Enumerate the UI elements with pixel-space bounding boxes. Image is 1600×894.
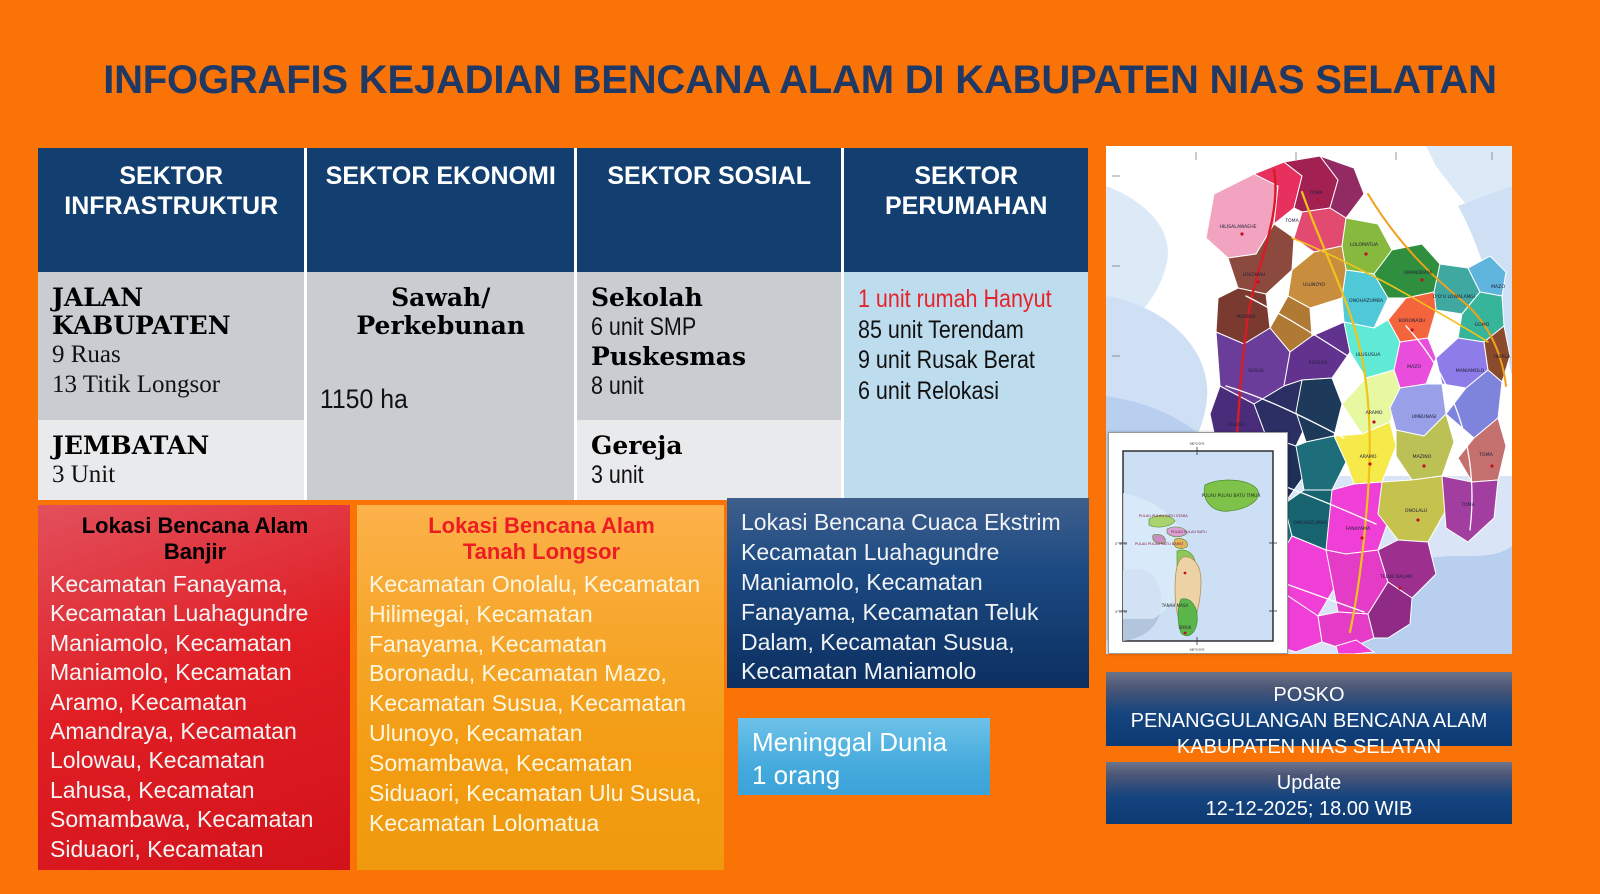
column-sosial: SEKTOR SOSIAL Sekolah 6 unit SMP Puskesm… — [577, 148, 844, 500]
header-sosial: SEKTOR SOSIAL — [577, 148, 841, 272]
svg-text:UMBUNASI: UMBUNASI — [1412, 414, 1437, 420]
svg-text:ULUNOYO: ULUNOYO — [1303, 282, 1325, 288]
longsor-body: Kecamatan Onolalu, Kecamatan Hilimegai, … — [369, 570, 714, 839]
jalan-titik-longsor: 13 Titik Longsor — [52, 370, 304, 400]
svg-text:0°15'N: 0°15'N — [1115, 610, 1127, 614]
svg-text:ULUSUSUA: ULUSUSUA — [1356, 352, 1382, 358]
svg-text:O'O'U LOWALANGI: O'O'U LOWALANGI — [1433, 294, 1475, 300]
column-infrastruktur: SEKTOR INFRASTRUKTUR JALAN KABUPATEN 9 R… — [38, 148, 307, 500]
puskesmas-title: Puskesmas — [591, 343, 841, 371]
header-infrastruktur: SEKTOR INFRASTRUKTUR — [38, 148, 304, 272]
svg-text:PULAU PULAU BATU: PULAU PULAU BATU — [1171, 530, 1207, 534]
svg-text:MAZINO: MAZINO — [1413, 454, 1432, 460]
puskesmas-unit: 8 unit — [591, 371, 806, 402]
banjir-body: Kecamatan Fanayama, Kecamatan Luahagundr… — [50, 570, 340, 870]
inset-island-label: PULAU PULAU BATU TIMUR — [1201, 493, 1260, 499]
svg-text:LOLOMATUA: LOLOMATUA — [1350, 242, 1379, 248]
svg-text:MAZINO: MAZINO — [1237, 314, 1256, 320]
jembatan-unit: 3 Unit — [52, 460, 304, 490]
svg-text:ARAMO: ARAMO — [1360, 454, 1377, 460]
svg-text:98°0'0"E: 98°0'0"E — [1190, 442, 1205, 446]
header-perumahan: SEKTOR PERUMAHAN — [844, 148, 1088, 272]
gereja-title: Gereja — [591, 432, 841, 460]
longsor-title-line1: Lokasi Bencana Alam — [369, 513, 714, 539]
update-label: Update — [1106, 770, 1512, 796]
cell-infrastruktur-jembatan: JEMBATAN 3 Unit — [38, 420, 304, 500]
svg-text:BORONADU: BORONADU — [1399, 318, 1426, 324]
svg-text:98°0'0"E: 98°0'0"E — [1190, 648, 1205, 652]
svg-text:ONOLALU: ONOLALU — [1405, 508, 1427, 514]
sawah-title-line1: Sawah/ — [307, 284, 573, 312]
cell-sosial-sekolah: Sekolah 6 unit SMP Puskesmas 8 unit — [577, 272, 841, 420]
svg-text:ARAMO: ARAMO — [1366, 410, 1383, 416]
map-inset-pulau-pulau-batu: PULAU PULAU BATU TIMUR TANAH MASA SIMUK … — [1108, 432, 1288, 654]
svg-text:TOMA: TOMA — [1460, 502, 1475, 508]
posko-line-1: POSKO — [1106, 682, 1512, 708]
banjir-title-line2: Banjir — [50, 539, 340, 565]
svg-text:TANAH MASA: TANAH MASA — [1161, 603, 1189, 608]
sector-table: SEKTOR INFRASTRUKTUR JALAN KABUPATEN 9 R… — [38, 148, 1088, 500]
cell-perumahan: 1 unit rumah Hanyut 85 unit Terendam 9 u… — [844, 272, 1088, 500]
svg-text:MAZO: MAZO — [1407, 364, 1421, 370]
update-timestamp: 12-12-2025; 18.00 WIB — [1106, 796, 1512, 822]
meninggal-count: 1 orang — [752, 759, 990, 792]
svg-text:GOMO: GOMO — [1475, 322, 1490, 328]
jalan-title-line2: KABUPATEN — [52, 312, 304, 340]
svg-text:FANAYAMA: FANAYAMA — [1346, 526, 1371, 532]
panel-lokasi-longsor: Lokasi Bencana Alam Tanah Longsor Kecama… — [357, 505, 724, 870]
svg-text:MAZO: MAZO — [1491, 284, 1505, 290]
svg-text:PULAU PULAU BATU UTARA: PULAU PULAU BATU UTARA — [1139, 514, 1188, 518]
cuaca-body: Lokasi Bencana Cuaca Ekstrim Kecamatan L… — [741, 508, 1077, 687]
svg-text:AMANDRAYA: AMANDRAYA — [1404, 270, 1433, 276]
rumah-rusak-berat: 9 unit Rusak Berat — [858, 345, 1055, 376]
rumah-hanyut: 1 unit rumah Hanyut — [858, 284, 1055, 315]
cell-sosial-gereja: Gereja 3 unit — [577, 420, 841, 500]
svg-text:TELUK DALAM: TELUK DALAM — [1379, 574, 1412, 580]
jembatan-title: JEMBATAN — [52, 432, 304, 460]
panel-lokasi-cuaca-ekstrim: Lokasi Bencana Cuaca Ekstrim Kecamatan L… — [727, 498, 1089, 688]
column-perumahan: SEKTOR PERUMAHAN 1 unit rumah Hanyut 85 … — [844, 148, 1088, 500]
longsor-title-line2: Tanah Longsor — [369, 539, 714, 565]
jalan-title-line1: JALAN — [52, 284, 304, 312]
svg-text:ONOHAZUMBA: ONOHAZUMBA — [1293, 520, 1328, 526]
svg-text:SUSUA: SUSUA — [1248, 368, 1265, 374]
sekolah-unit: 6 unit SMP — [591, 312, 806, 343]
svg-text:LAHUSA: LAHUSA — [1227, 422, 1247, 428]
svg-text:TOMA: TOMA — [1478, 452, 1493, 458]
column-ekonomi: SEKTOR EKONOMI Sawah/ Perkebunan 1150 ha — [307, 148, 576, 500]
svg-text:TOMA: TOMA — [1284, 218, 1299, 224]
svg-text:PULAU PULAU BATU BARAT: PULAU PULAU BATU BARAT — [1135, 542, 1184, 546]
gereja-unit: 3 unit — [591, 460, 806, 491]
svg-text:SIMUK: SIMUK — [1179, 625, 1192, 630]
meninggal-label: Meninggal Dunia — [752, 726, 990, 759]
svg-text:LOLOWAU: LOLOWAU — [1243, 272, 1266, 278]
svg-text:HIBALA: HIBALA — [1494, 354, 1512, 360]
cell-ekonomi-sawah: Sawah/ Perkebunan 1150 ha — [307, 272, 573, 500]
jalan-ruas: 9 Ruas — [52, 340, 304, 370]
sawah-title-line2: Perkebunan — [307, 312, 573, 340]
sawah-value: 1150 ha — [307, 384, 552, 415]
page-title: INFOGRAFIS KEJADIAN BENCANA ALAM DI KABU… — [0, 58, 1600, 103]
cell-infrastruktur-jalan: JALAN KABUPATEN 9 Ruas 13 Titik Longsor — [38, 272, 304, 420]
posko-line-2: PENANGGULANGAN BENCANA ALAM — [1106, 708, 1512, 734]
header-ekonomi: SEKTOR EKONOMI — [307, 148, 573, 272]
rumah-terendam: 85 unit Terendam — [858, 315, 1055, 346]
svg-text:HILISALAWAEHE: HILISALAWAEHE — [1219, 224, 1256, 230]
sekolah-title: Sekolah — [591, 284, 841, 312]
svg-text:0°30'N: 0°30'N — [1115, 542, 1127, 546]
map-inset-svg: PULAU PULAU BATU TIMUR TANAH MASA SIMUK … — [1109, 433, 1287, 653]
posko-line-3: KABUPATEN NIAS SELATAN — [1106, 734, 1512, 760]
posko-info-box: POSKO PENANGGULANGAN BENCANA ALAM KABUPA… — [1106, 672, 1512, 746]
svg-text:ALOSOA: ALOSOA — [1309, 360, 1329, 366]
update-info-box: Update 12-12-2025; 18.00 WIB — [1106, 762, 1512, 824]
panel-lokasi-banjir: Lokasi Bencana Alam Banjir Kecamatan Fan… — [38, 505, 350, 870]
svg-text:TOMA: TOMA — [1308, 190, 1323, 196]
svg-text:ONOHAZUMBA: ONOHAZUMBA — [1349, 298, 1384, 304]
banjir-title-line1: Lokasi Bencana Alam — [50, 513, 340, 539]
panel-meninggal-dunia: Meninggal Dunia 1 orang — [738, 718, 990, 795]
svg-text:MANIAMOLO: MANIAMOLO — [1456, 368, 1485, 374]
rumah-relokasi: 6 unit Relokasi — [858, 376, 1055, 407]
